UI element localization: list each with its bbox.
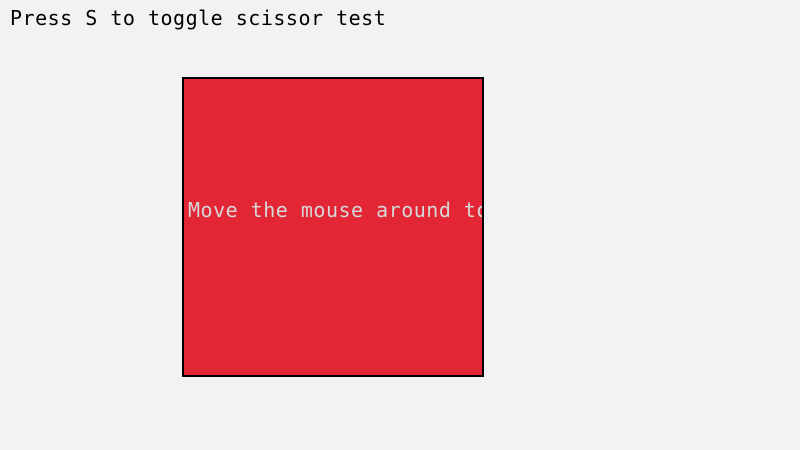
scissor-rectangle[interactable]: Move the mouse around to reveal this tex… [182, 77, 484, 377]
toggle-scissor-hint: Press S to toggle scissor test [10, 7, 386, 29]
clipped-message-text: Move the mouse around to reveal this tex… [188, 199, 484, 221]
scissor-fill [184, 79, 482, 375]
scissor-test-canvas[interactable]: Press S to toggle scissor test Move the … [0, 0, 800, 450]
